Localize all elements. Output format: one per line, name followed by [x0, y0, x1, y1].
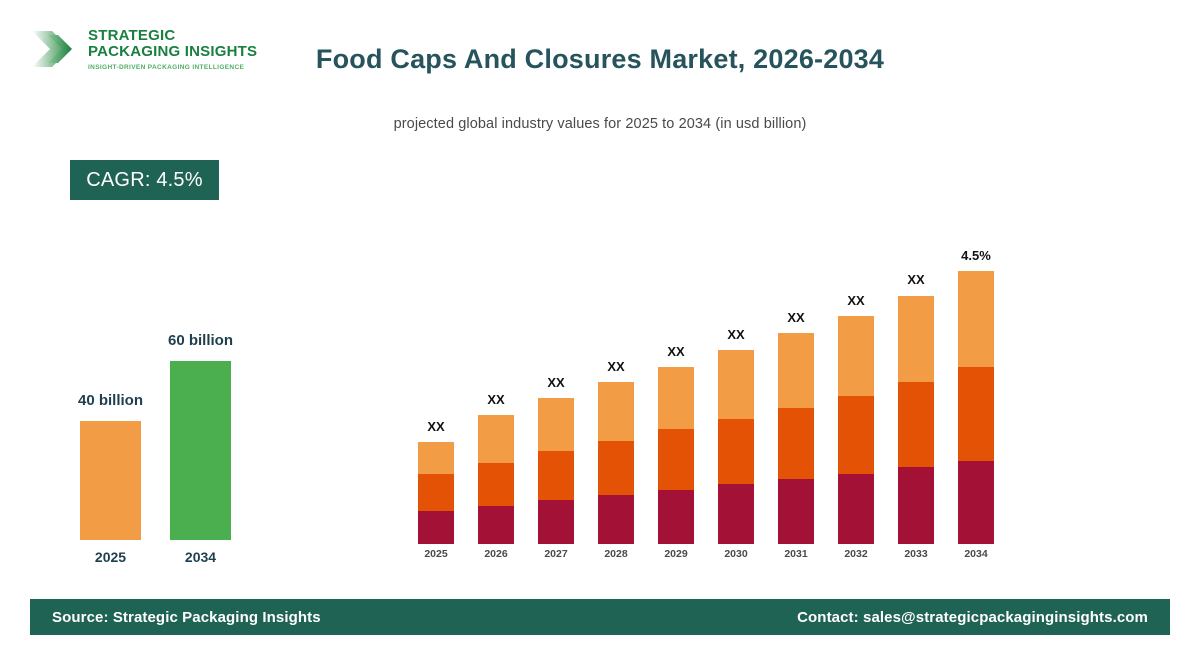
stacked-bar-chart: XX2025XX2026XX2027XX2028XX2029XX2030XX20… [410, 200, 1010, 560]
stacked-bar-segment [478, 415, 514, 463]
stacked-bar [778, 333, 814, 544]
cagr-badge: CAGR: 4.5% [70, 160, 219, 200]
stacked-bar-segment [478, 463, 514, 506]
stacked-bar-segment [478, 506, 514, 544]
footer-source: Source: Strategic Packaging Insights [52, 609, 321, 626]
stacked-bar-year: 2033 [886, 548, 946, 560]
endpoint-bar [80, 421, 141, 540]
stacked-bar-value-label: XX [526, 375, 586, 390]
stacked-bar-segment [658, 490, 694, 544]
stacked-bar-value-label: XX [586, 359, 646, 374]
endpoint-bar-chart: 40 billion202560 billion2034 [60, 300, 310, 570]
stacked-bar-segment [658, 367, 694, 429]
stacked-bar-segment [538, 500, 574, 544]
stacked-bar-value-label: XX [646, 344, 706, 359]
stacked-bar-year: 2031 [766, 548, 826, 560]
stacked-bar-year: 2029 [646, 548, 706, 560]
stacked-bar-segment [778, 408, 814, 479]
stacked-bar-segment [898, 382, 934, 467]
stacked-bar-value-label: XX [706, 327, 766, 342]
stacked-bar-group: XX2028 [598, 200, 634, 560]
stacked-bar-segment [658, 429, 694, 490]
stacked-bar-segment [958, 271, 994, 367]
page-subtitle: projected global industry values for 202… [0, 116, 1200, 132]
footer-bar: Source: Strategic Packaging Insights Con… [30, 599, 1170, 635]
endpoint-bar-year: 2034 [150, 549, 251, 565]
footer-contact: Contact: sales@strategicpackaginginsight… [797, 609, 1148, 626]
stacked-bar [658, 367, 694, 544]
stacked-bar-segment [898, 296, 934, 382]
stacked-bar-value-label: XX [766, 310, 826, 325]
stacked-bar-group: XX2029 [658, 200, 694, 560]
stacked-bar-segment [598, 382, 634, 441]
stacked-bar-value-label: XX [406, 419, 466, 434]
stacked-bar-group: XX2026 [478, 200, 514, 560]
stacked-bar-segment [418, 442, 454, 474]
stacked-bar-group: XX2025 [418, 200, 454, 560]
stacked-bar-segment [778, 333, 814, 408]
endpoint-bar-value: 60 billion [150, 332, 251, 349]
stacked-bar [598, 382, 634, 544]
stacked-bar-segment [718, 350, 754, 419]
stacked-bar-value-label: XX [466, 392, 526, 407]
endpoint-bar-value: 40 billion [60, 392, 161, 409]
stacked-bar-year: 2026 [466, 548, 526, 560]
stacked-bar-segment [718, 419, 754, 484]
stacked-bar-group: XX2027 [538, 200, 574, 560]
stacked-bar-segment [598, 495, 634, 544]
stacked-bar-value-label: XX [886, 272, 946, 287]
stacked-bar [838, 316, 874, 544]
stacked-bar-segment [418, 511, 454, 544]
page-title: Food Caps And Closures Market, 2026-2034 [0, 44, 1200, 75]
stacked-bar [538, 398, 574, 544]
logo-line-1: STRATEGIC [88, 28, 257, 43]
stacked-bar [718, 350, 754, 544]
endpoint-bar [170, 361, 231, 540]
stacked-bar-segment [538, 398, 574, 451]
stacked-bar [418, 442, 454, 544]
stacked-bar-year: 2025 [406, 548, 466, 560]
stacked-bar-year: 2028 [586, 548, 646, 560]
stacked-bar-segment [538, 451, 574, 500]
stacked-bar-segment [718, 484, 754, 544]
stacked-bar-group: XX2032 [838, 200, 874, 560]
stacked-bar-segment [778, 479, 814, 544]
stacked-bar-value-label: XX [826, 293, 886, 308]
stacked-bar-segment [598, 441, 634, 495]
stacked-bar-group: XX2033 [898, 200, 934, 560]
stacked-bar-group: 4.5%2034 [958, 200, 994, 560]
endpoint-bar-year: 2025 [60, 549, 161, 565]
stacked-bar-segment [838, 396, 874, 474]
stacked-bar-segment [418, 474, 454, 511]
stacked-bar-segment [958, 367, 994, 461]
stacked-bar-year: 2030 [706, 548, 766, 560]
stacked-bar-segment [838, 474, 874, 544]
stacked-bar-year: 2032 [826, 548, 886, 560]
stacked-bar-year: 2034 [946, 548, 1006, 560]
stacked-bar-segment [898, 467, 934, 544]
stacked-bar [898, 296, 934, 544]
stacked-bar-segment [958, 461, 994, 544]
infographic-page: STRATEGIC PACKAGING INSIGHTS INSIGHT-DRI… [0, 0, 1200, 650]
stacked-bar-year: 2027 [526, 548, 586, 560]
stacked-bar-segment [838, 316, 874, 396]
stacked-bar [958, 271, 994, 544]
stacked-bar [478, 415, 514, 544]
stacked-bar-value-label: 4.5% [946, 248, 1006, 263]
stacked-bar-group: XX2030 [718, 200, 754, 560]
stacked-bar-group: XX2031 [778, 200, 814, 560]
